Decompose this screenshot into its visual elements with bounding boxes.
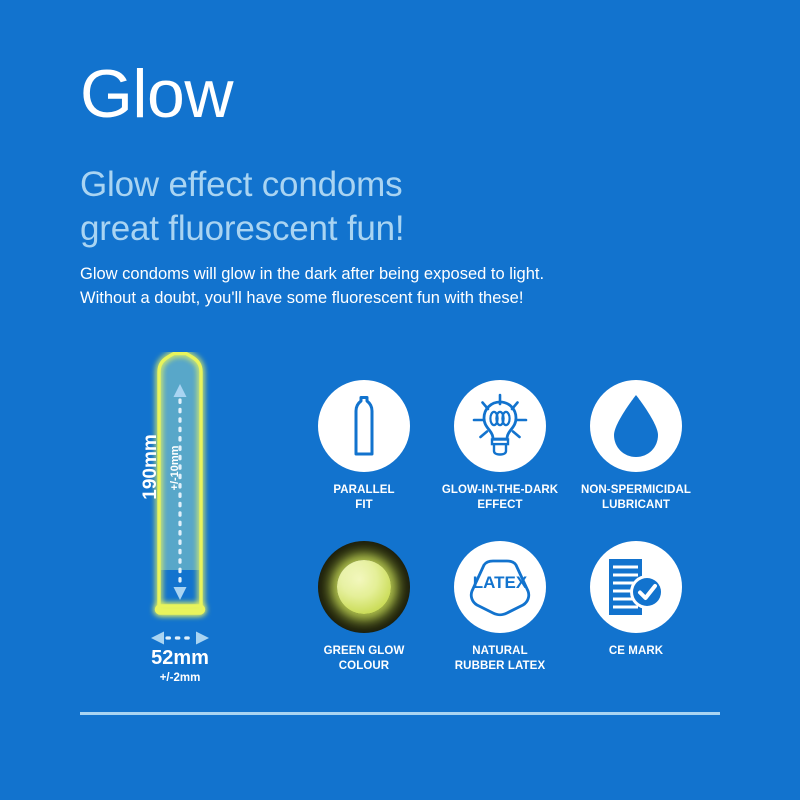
page-subtitle: Glow effect condoms great fluorescent fu… [80,163,404,251]
feature-natural-rubber-latex: LATEX NATURAL RUBBER LATEX [432,541,568,674]
latex-icon-text: LATEX [473,573,528,592]
feature-icon-badge: LATEX [454,541,546,633]
feature-label: NON-SPERMICIDAL LUBRICANT [581,483,691,513]
feature-grid: PARALLEL FIT [296,380,706,674]
lightbulb-rays-icon [467,393,533,459]
page-title: Glow [80,57,233,131]
feature-icon-badge [454,380,546,472]
feature-icon-badge [590,380,682,472]
feature-ce-mark: CE MARK [568,541,704,674]
width-tolerance: +/-2mm [110,672,250,684]
width-dimension-arrow [151,632,209,645]
document-check-icon [604,556,668,618]
feature-icon-badge [318,380,410,472]
feature-glow-in-the-dark: GLOW-IN-THE-DARK EFFECT [432,380,568,513]
latex-triangle-icon: LATEX [465,555,535,619]
bottom-divider [80,712,720,715]
feature-icon-badge [590,541,682,633]
feature-label: CE MARK [609,644,663,659]
green-glow-circle-icon [337,560,391,614]
page-description: Glow condoms will glow in the dark after… [80,262,544,310]
feature-green-glow-colour: GREEN GLOW COLOUR [296,541,432,674]
width-value: 52mm [110,647,250,670]
condom-outline-icon [336,395,392,457]
feature-label: PARALLEL FIT [333,483,394,513]
feature-label: GLOW-IN-THE-DARK EFFECT [442,483,558,513]
feature-label: NATURAL RUBBER LATEX [455,644,545,674]
water-drop-icon [610,393,662,459]
product-infographic-page: Glow Glow effect condoms great fluoresce… [0,0,800,800]
feature-parallel-fit: PARALLEL FIT [296,380,432,513]
feature-non-spermicidal-lubricant: NON-SPERMICIDAL LUBRICANT [568,380,704,513]
condom-shape-icon [110,352,250,692]
feature-icon-badge [318,541,410,633]
feature-label: GREEN GLOW COLOUR [324,644,405,674]
feature-row-1: PARALLEL FIT [296,380,706,513]
feature-row-2: GREEN GLOW COLOUR LATEX NATURAL RUBBER L… [296,541,706,674]
condom-dimension-diagram: 190mm +/-10mm 52mm +/-2mm [110,352,250,692]
